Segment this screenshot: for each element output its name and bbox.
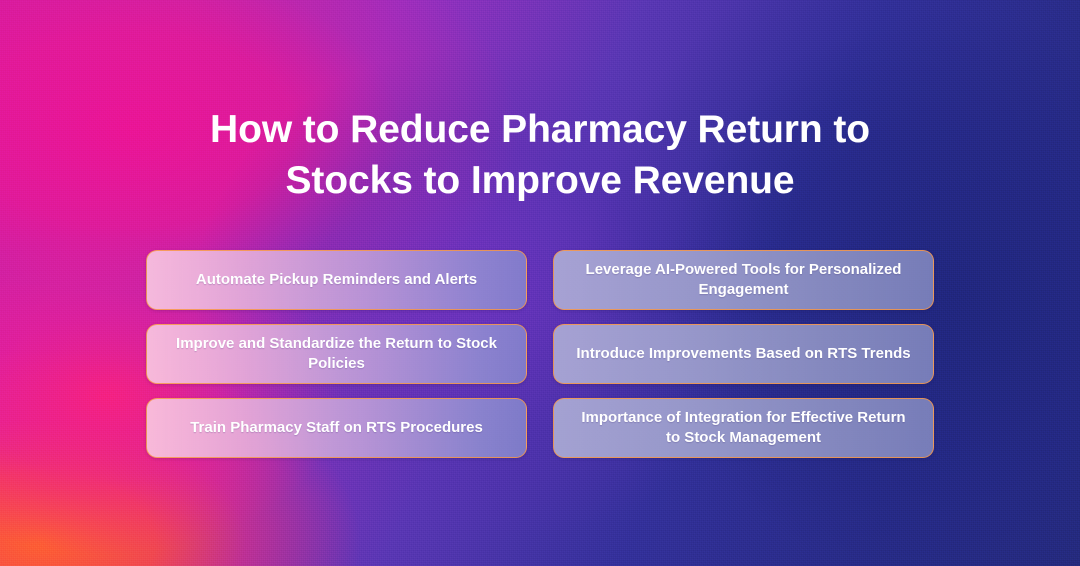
- topic-card-label: Importance of Integration for Effective …: [576, 408, 911, 448]
- topic-card-label: Train Pharmacy Staff on RTS Procedures: [190, 418, 483, 438]
- slide-content: How to Reduce Pharmacy Return to Stocks …: [0, 0, 1080, 566]
- topic-card-introduce-improvements-rts-trends[interactable]: Introduce Improvements Based on RTS Tren…: [553, 324, 934, 384]
- slide-title: How to Reduce Pharmacy Return to Stocks …: [0, 104, 1080, 206]
- topic-card-grid: Automate Pickup Reminders and Alerts Lev…: [146, 250, 934, 458]
- topic-card-automate-pickup-reminders[interactable]: Automate Pickup Reminders and Alerts: [146, 250, 527, 310]
- presentation-slide: How to Reduce Pharmacy Return to Stocks …: [0, 0, 1080, 566]
- topic-card-importance-of-integration[interactable]: Importance of Integration for Effective …: [553, 398, 934, 458]
- topic-card-train-pharmacy-staff[interactable]: Train Pharmacy Staff on RTS Procedures: [146, 398, 527, 458]
- topic-card-label: Introduce Improvements Based on RTS Tren…: [576, 344, 910, 364]
- topic-card-leverage-ai-powered-tools[interactable]: Leverage AI-Powered Tools for Personaliz…: [553, 250, 934, 310]
- topic-card-label: Leverage AI-Powered Tools for Personaliz…: [576, 260, 911, 300]
- topic-card-label: Automate Pickup Reminders and Alerts: [196, 270, 477, 290]
- topic-card-improve-standardize-policies[interactable]: Improve and Standardize the Return to St…: [146, 324, 527, 384]
- topic-card-label: Improve and Standardize the Return to St…: [169, 334, 504, 374]
